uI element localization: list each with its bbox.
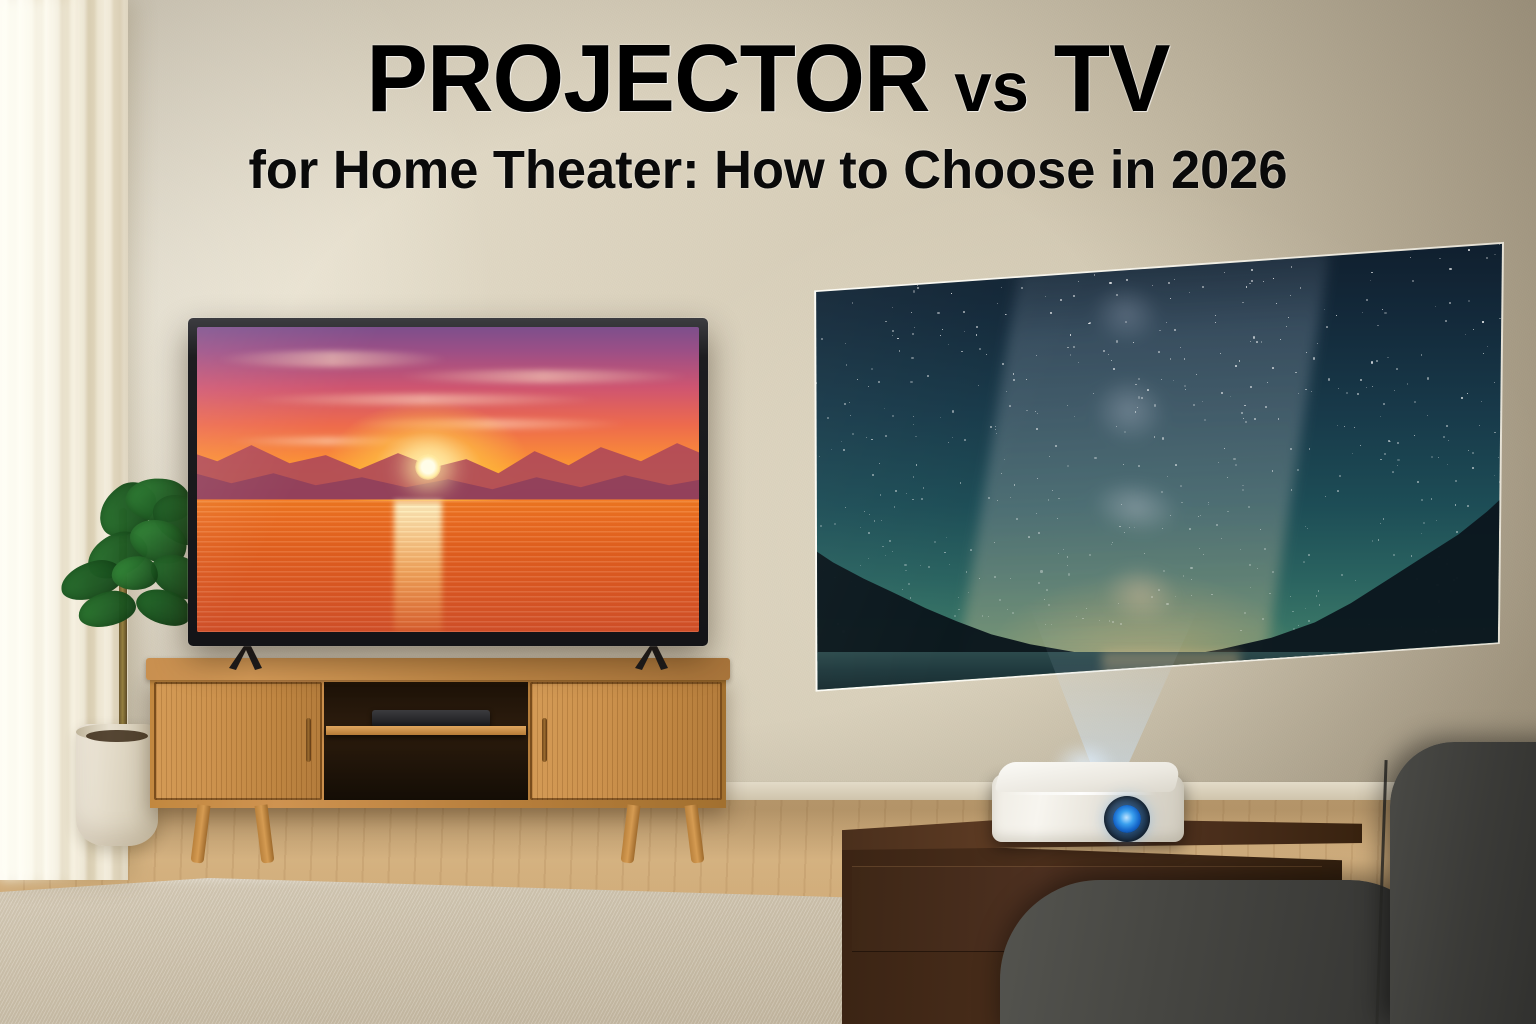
projector-top-panel — [994, 762, 1181, 792]
tv-mountain-silhouette — [197, 411, 699, 501]
tv-sun — [415, 454, 441, 480]
armchair-back — [1390, 742, 1536, 1024]
plant-pot — [76, 724, 158, 846]
console-handle-right[interactable] — [542, 718, 547, 762]
console-handle-left[interactable] — [306, 718, 311, 762]
armchair-arm — [1000, 880, 1440, 1024]
tv-cloud — [398, 370, 689, 383]
projector-lens-glow — [1113, 805, 1141, 833]
curtain-backlight-glow — [0, 0, 86, 880]
rug-weave-texture — [0, 878, 900, 1024]
tv-screen — [197, 327, 699, 632]
tv-water-ripples — [197, 501, 699, 632]
projector[interactable] — [992, 762, 1184, 846]
plant-soil — [86, 730, 148, 742]
console-door-right-grain — [532, 682, 720, 800]
console-door-left-grain — [156, 682, 320, 800]
tv-cloud — [217, 351, 448, 367]
television[interactable] — [188, 318, 708, 646]
console-shelf-board — [326, 726, 526, 735]
projector-edge-highlight — [1006, 792, 1156, 795]
console-open-shelf — [324, 682, 528, 800]
media-player-device — [372, 710, 490, 727]
home-theater-scene: PROJECTOR vs TV for Home Theater: How to… — [0, 0, 1536, 1024]
